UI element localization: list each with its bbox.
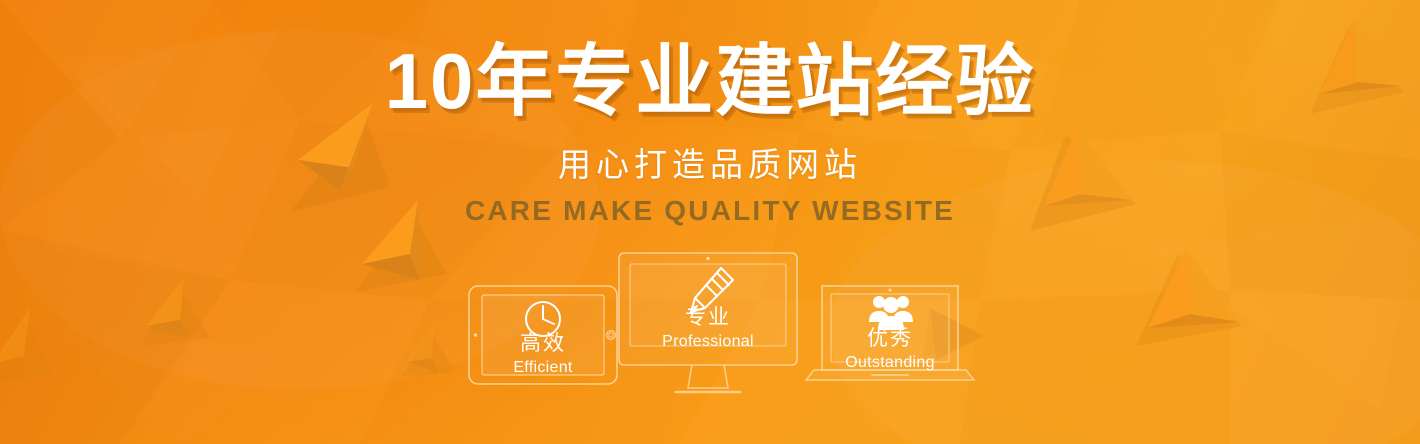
promo-banner: 10年专业建站经验 用心打造品质网站 CARE MAKE QUALITY WEB…	[0, 0, 1420, 444]
subtitle-english: CARE MAKE QUALITY WEBSITE	[465, 197, 955, 225]
subtitle-chinese: 用心打造品质网站	[558, 148, 862, 181]
pencil-icon	[686, 264, 738, 316]
page-title: 10年专业建站经验	[385, 42, 1036, 120]
clock-icon	[519, 295, 567, 343]
feature-card-efficient[interactable]: 高效 Efficient	[468, 285, 618, 385]
feature-card-outstanding[interactable]: 优秀 Outstanding	[802, 284, 978, 386]
feature-devices-row: 高效 Efficient	[0, 252, 1420, 402]
feature-card-professional[interactable]: 专业 Professional	[618, 252, 798, 400]
people-icon	[868, 292, 914, 334]
